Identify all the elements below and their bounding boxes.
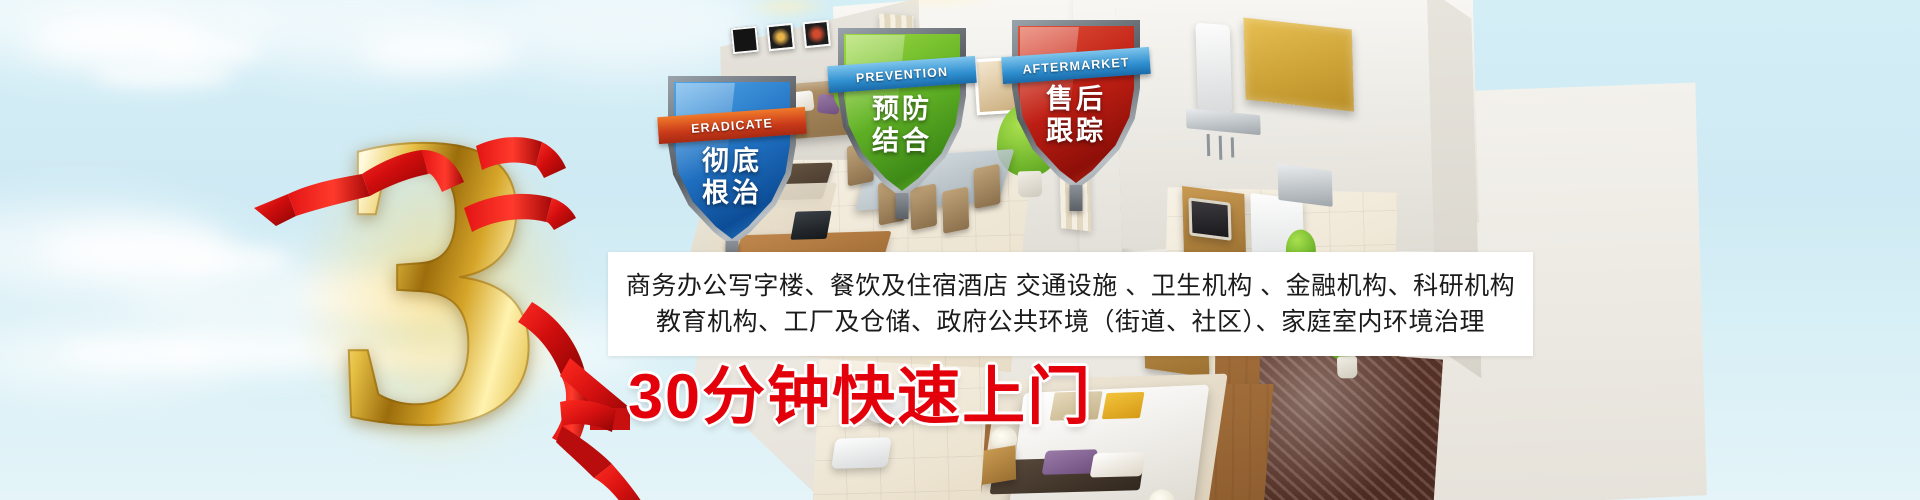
service-scope-line-2: 教育机构、工厂及仓储、政府公共环境（街道、社区）、家庭室内环境治理 [656,307,1485,337]
service-scope-panel: 商务办公写字楼、餐饮及住宿酒店 交通设施 、卫生机构 、金融机构、科研机构 教育… [608,252,1533,356]
headline-text: 30分钟快速上门 [628,362,1092,432]
shield-cn-line1: 彻底 [668,146,796,177]
shield-badge-aftermarket[interactable]: AFTERMARKET 售后 跟踪 [1012,20,1140,190]
shield-cn-line1: 售后 [1012,84,1140,115]
shield-cn-line2: 根治 [668,178,796,209]
shield-cn-line2: 跟踪 [1012,116,1140,147]
shield-cn-line1: 预防 [838,94,966,125]
shield-pole [1070,185,1083,211]
shield-pole [896,193,909,219]
shield-band-label: AFTERMARKET [1022,55,1130,76]
shield-badge-prevention[interactable]: PREVENTION 预防 结合 [838,28,966,198]
service-scope-line-1: 商务办公写字楼、餐饮及住宿酒店 交通设施 、卫生机构 、金融机构、科研机构 [626,271,1515,301]
shield-band-label: PREVENTION [855,64,948,84]
shield-badge-eradicate[interactable]: ERADICATE 彻底 根治 [668,76,796,246]
shield-band-label: ERADICATE [691,116,774,136]
promo-banner: 3 [0,0,1920,500]
shield-cn-line2: 结合 [838,126,966,157]
